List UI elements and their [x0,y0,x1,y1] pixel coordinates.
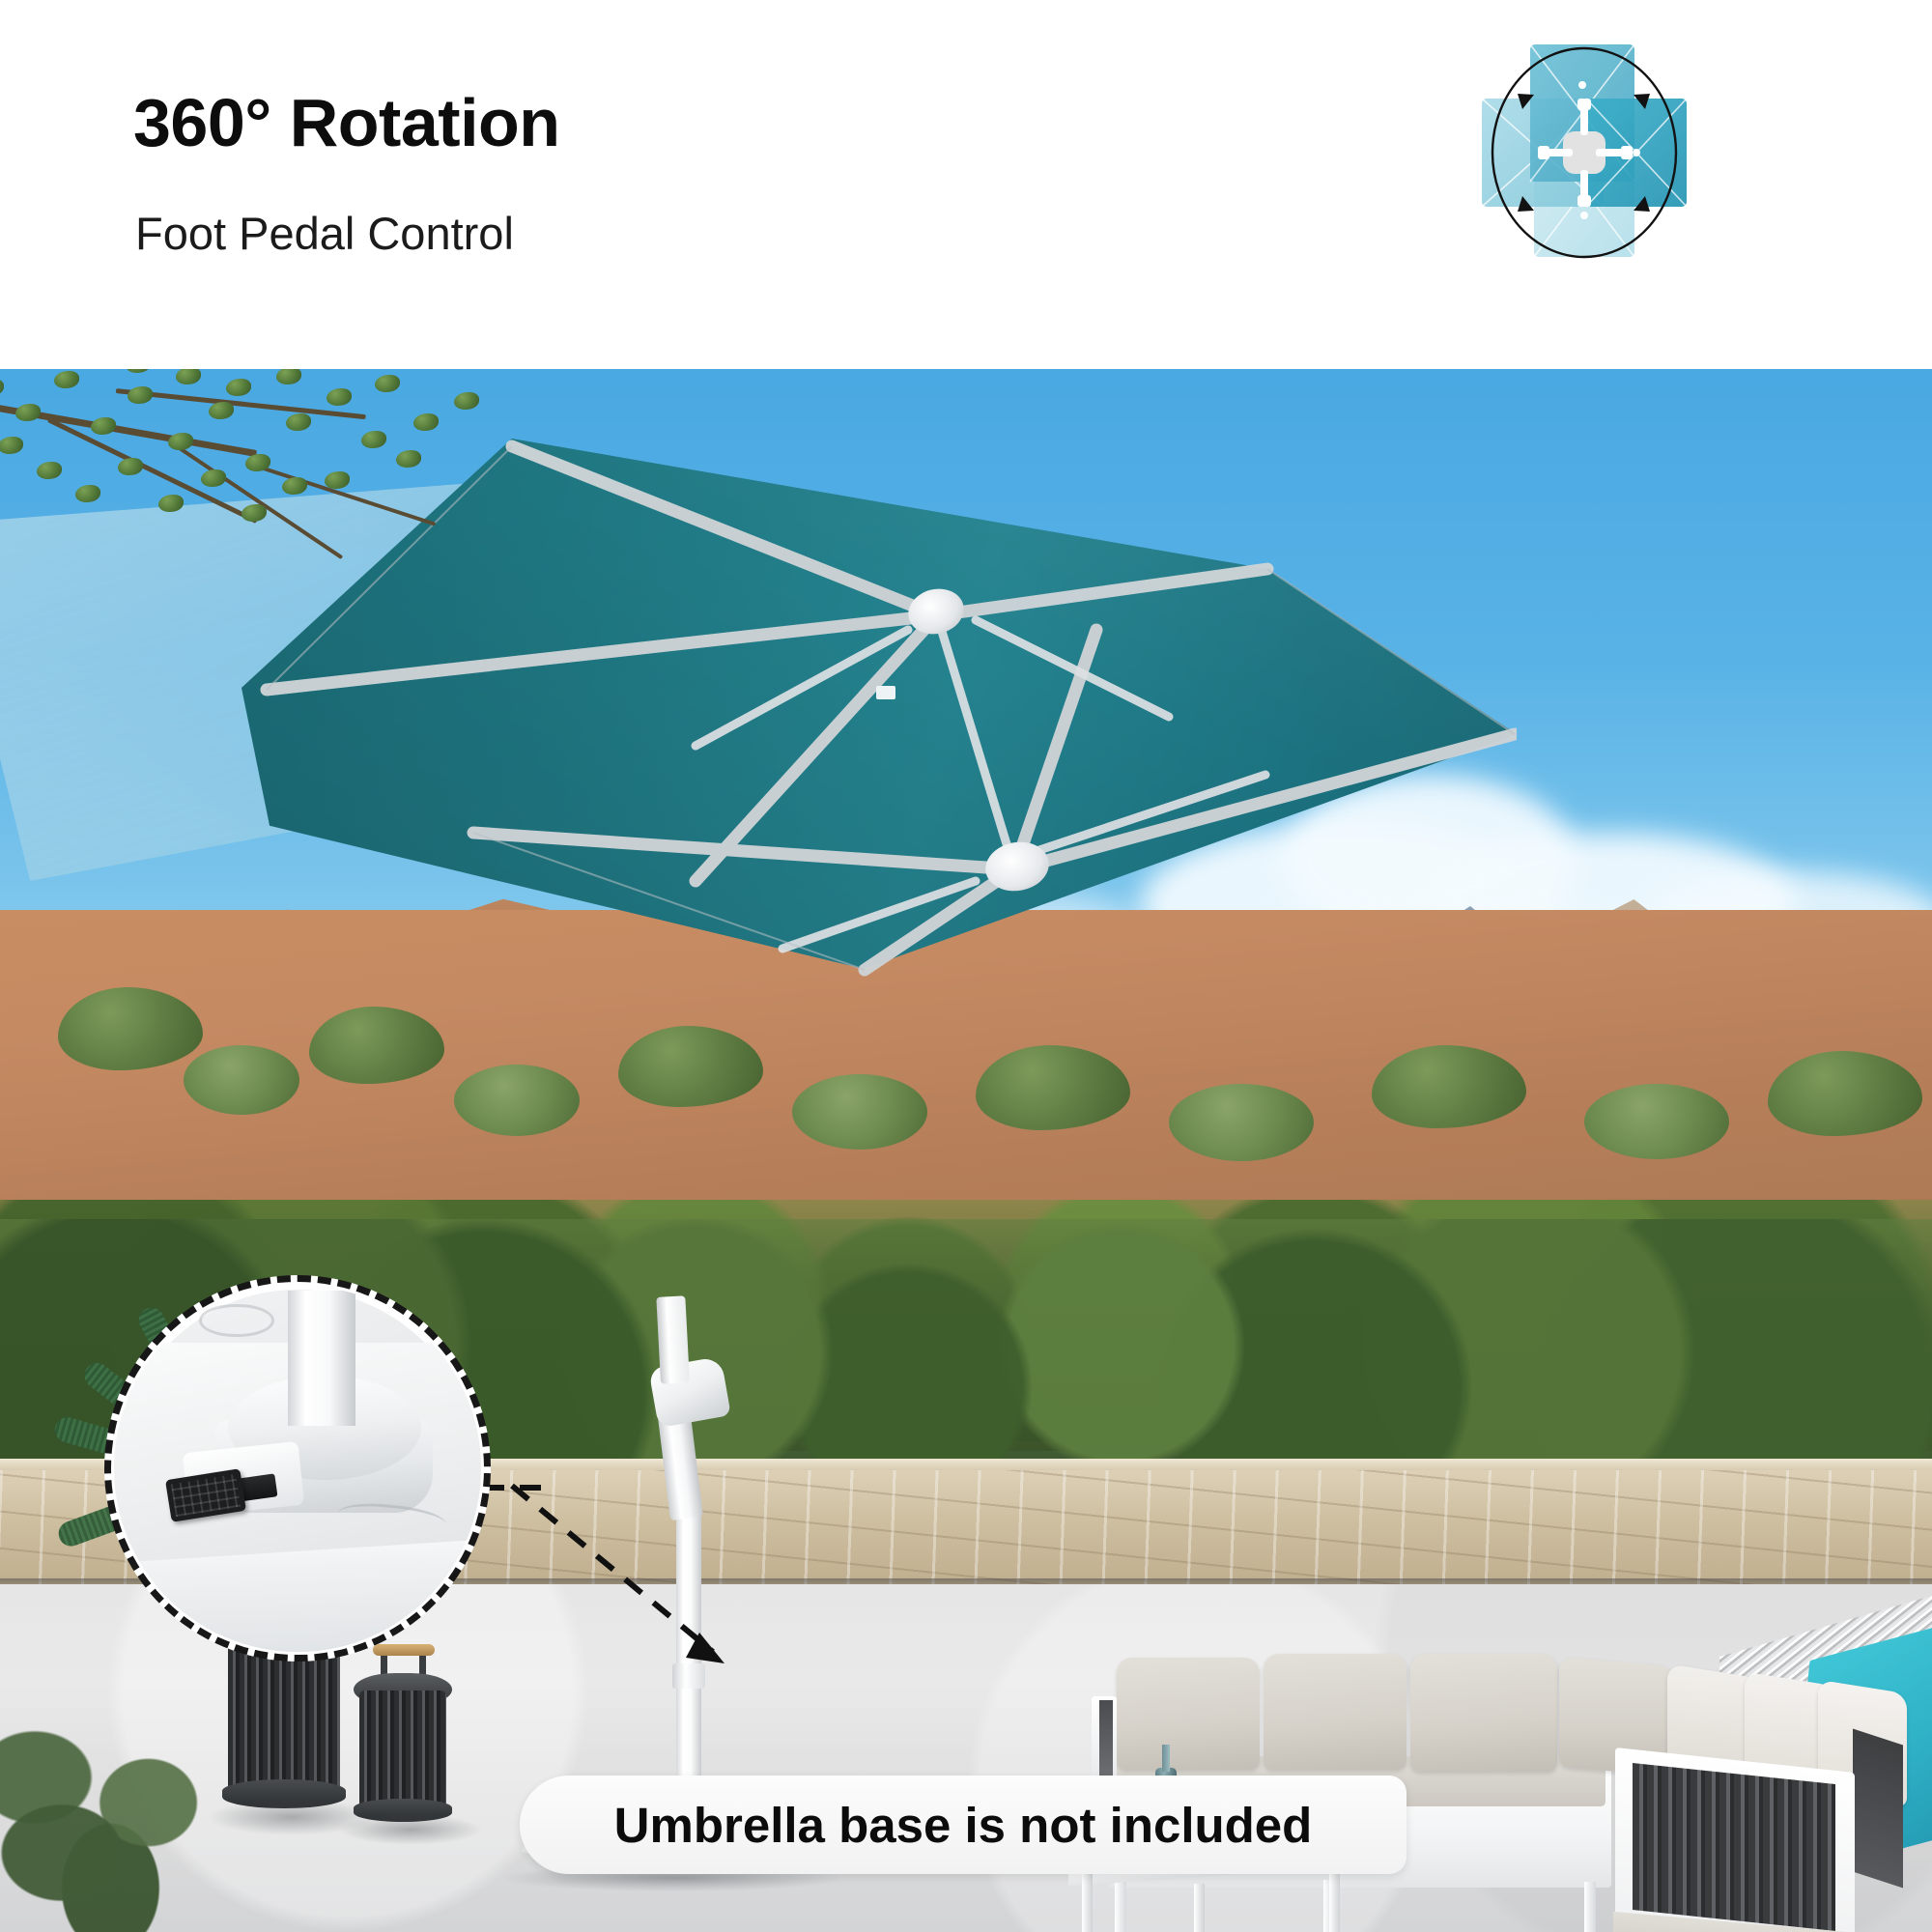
inset-photo [114,1285,481,1652]
page-title: 360° Rotation [133,89,560,156]
product-feature-image: 360° Rotation Foot Pedal Control [0,0,1932,1932]
disclaimer-text: Umbrella base is not included [614,1797,1313,1854]
rotation-diagram-icon [1441,17,1731,298]
header-band: 360° Rotation Foot Pedal Control [0,0,1932,369]
page-subtitle: Foot Pedal Control [135,211,514,256]
foot-pedal-closeup [104,1275,491,1662]
base-embossing [199,1304,274,1337]
pedal-tread-grid [171,1474,241,1517]
pole-section [288,1291,355,1426]
disclaimer-badge: Umbrella base is not included [520,1776,1406,1874]
